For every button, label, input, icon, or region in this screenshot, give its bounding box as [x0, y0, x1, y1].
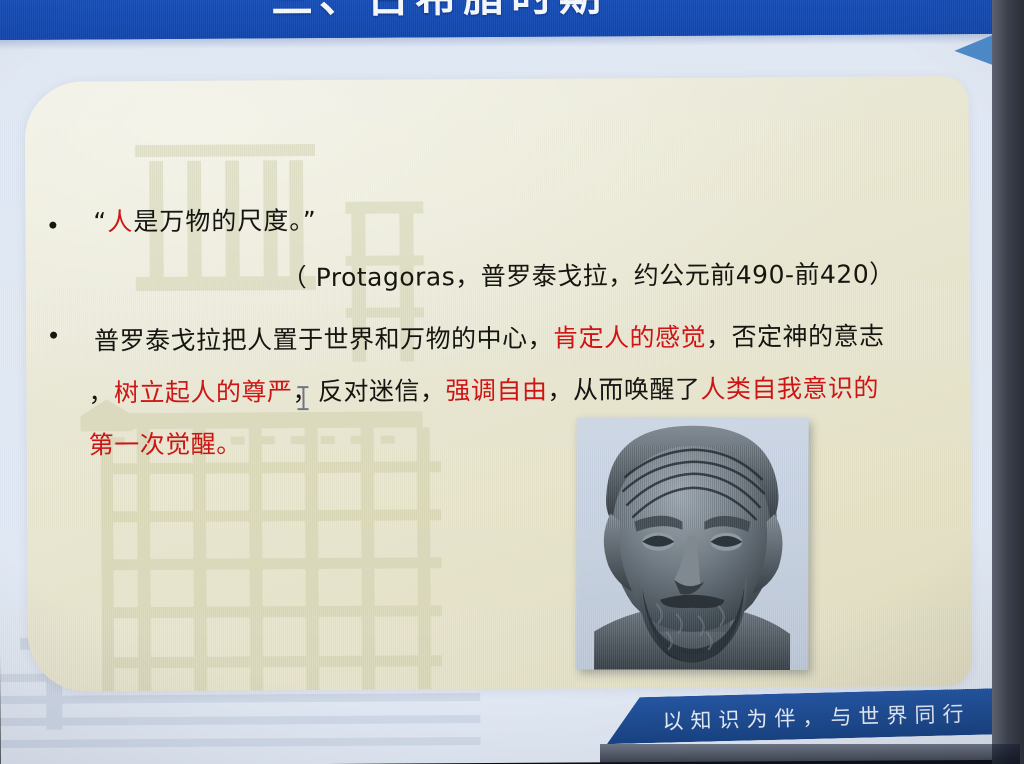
screen-bezel-right [992, 0, 1024, 764]
explanation-paragraph: 普罗泰戈拉把人置于世界和万物的中心，肯定人的感觉，否定神的意志 ，树立起人的尊严… [94, 310, 975, 471]
explanation-line-3: 第一次觉醒。 [89, 414, 975, 471]
quote-rest: 是万物的尺度。” [133, 206, 317, 236]
attribution-line: （ Protagoras，普罗泰戈拉，约公元前490-前420） [282, 258, 895, 296]
projected-slide: 三、古希腊时期 [0, 0, 999, 764]
footer-slogan-text: 以知识为伴，与世界同行 [662, 698, 971, 736]
screen-bezel-bottom [600, 744, 1020, 764]
slide-title: 三、古希腊时期 [271, 0, 607, 25]
footer-slogan-bar: 以知识为伴，与世界同行 [606, 688, 999, 744]
philosopher-bust-photo [576, 417, 809, 670]
quote-highlight-word: 人 [107, 207, 133, 236]
bullet-quote: “人是万物的尺度。” [93, 204, 317, 239]
screen-photo: 三、古希腊时期 [0, 0, 1024, 764]
bullet-marker-1 [49, 222, 56, 229]
bullet-marker-2 [50, 332, 57, 339]
quote-open-mark: “ [93, 207, 107, 236]
explanation-line-1: 普罗泰戈拉把人置于世界和万物的中心，肯定人的感觉，否定神的意志 [94, 310, 974, 367]
explanation-line-2: ，树立起人的尊严，反对迷信，强调自由，从而唤醒了人类自我意识的 [88, 362, 974, 419]
marble-bust-icon [576, 417, 809, 670]
